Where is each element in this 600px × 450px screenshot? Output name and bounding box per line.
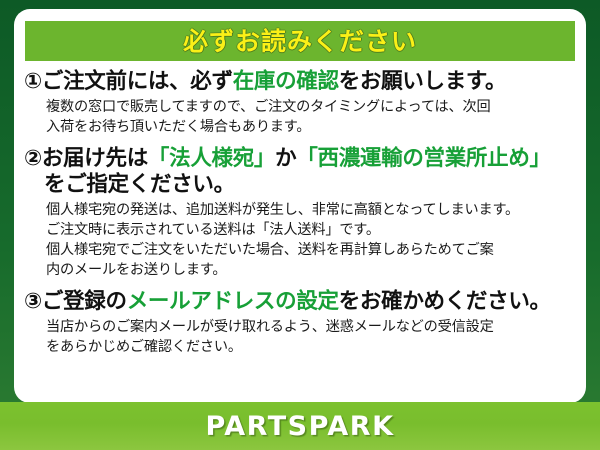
notice-banner: 必ずお読みください ①ご注文前には、必ず在庫の確認をお願いします。複数の窓口で販… — [0, 0, 600, 450]
notice-item-description-line: 個人様宅宛の発送は、追加送料が発生し、非常に高額となってしまいます。 — [46, 200, 576, 220]
notice-item-description: 複数の窓口で販売してますので、ご注文のタイミングによっては、次回入荷をお待ち頂い… — [24, 97, 576, 137]
notice-item-marker: ③ — [24, 289, 42, 314]
highlighted-phrase: 「西濃運輸の営業所止め」 — [296, 146, 550, 171]
notice-item-heading: ②お届け先は「法人様宛」か「西濃運輸の営業所止め」 — [24, 146, 576, 172]
heading-text: か — [275, 146, 296, 171]
footer-brand-band: PARTSPARK — [0, 402, 600, 450]
brand-name: PARTSPARK — [205, 411, 394, 442]
notice-item-description: 個人様宅宛の発送は、追加送料が発生し、非常に高額となってしまいます。ご注文時に表… — [24, 200, 576, 281]
notice-item-marker: ① — [24, 69, 42, 94]
highlighted-phrase: メールアドレスの設定 — [127, 289, 339, 314]
heading-text: をお確かめください。 — [339, 289, 551, 314]
heading-text: お届け先は — [42, 146, 148, 171]
notice-item: ③ご登録のメールアドレスの設定をお確かめください。当店からのご案内メールが受け取… — [24, 289, 576, 358]
highlighted-phrase: 「法人様宛」 — [148, 146, 275, 171]
notice-item-description-line: 当店からのご案内メールが受け取れるよう、迷惑メールなどの受信設定 — [46, 317, 576, 337]
heading-text: ご注文前には、必ず — [42, 69, 233, 94]
notice-item-description-line: 個人様宅宛でご注文をいただいた場合、送料を再計算しあらためてご案 — [46, 240, 576, 260]
heading-text: ご登録の — [42, 289, 127, 314]
notice-items-list: ①ご注文前には、必ず在庫の確認をお願いします。複数の窓口で販売してますので、ご注… — [14, 69, 586, 365]
highlighted-phrase: 在庫の確認 — [233, 69, 339, 94]
notice-item-description-line: 入荷をお待ち頂いただく場合もあります。 — [46, 117, 576, 137]
notice-item: ①ご注文前には、必ず在庫の確認をお願いします。複数の窓口で販売してますので、ご注… — [24, 69, 576, 138]
notice-item-marker: ② — [24, 146, 42, 171]
notice-item-heading-line2: をご指定ください。 — [24, 172, 576, 198]
notice-item-heading: ③ご登録のメールアドレスの設定をお確かめください。 — [24, 289, 576, 315]
page-title: 必ずお読みください — [183, 29, 417, 54]
notice-item: ②お届け先は「法人様宛」か「西濃運輸の営業所止め」をご指定ください。個人様宅宛の… — [24, 146, 576, 281]
white-content-panel: 必ずお読みください ①ご注文前には、必ず在庫の確認をお願いします。複数の窓口で販… — [14, 9, 586, 403]
notice-item-description-line: ご注文時に表示されている送料は「法人送料」です。 — [46, 220, 576, 240]
title-band: 必ずお読みください — [25, 21, 575, 61]
notice-item-description-line: 複数の窓口で販売してますので、ご注文のタイミングによっては、次回 — [46, 97, 576, 117]
notice-item-description-line: をあらかじめご確認ください。 — [46, 337, 576, 357]
notice-item-description-line: 内のメールをお送りします。 — [46, 260, 576, 280]
notice-item-heading: ①ご注文前には、必ず在庫の確認をお願いします。 — [24, 69, 576, 95]
heading-text: をお願いします。 — [339, 69, 506, 94]
notice-item-description: 当店からのご案内メールが受け取れるよう、迷惑メールなどの受信設定をあらかじめご確… — [24, 317, 576, 357]
